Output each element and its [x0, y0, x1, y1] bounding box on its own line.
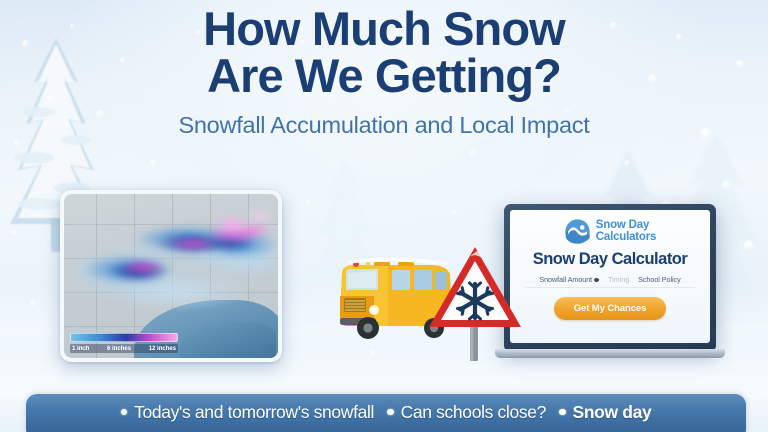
legend-label-1: 1 inch [72, 345, 89, 352]
banner-label-snow-day: Snow day [573, 402, 652, 423]
nav-label-snowfall-amount: Snowfall Amount [539, 275, 592, 284]
legend-label-2: 6 inches [107, 345, 131, 352]
legend-gradient-bar [70, 333, 178, 342]
nav-active-dot-icon [594, 278, 599, 282]
calculator-nav: Snowfall Amount Timing School Policy [525, 275, 694, 288]
site-logo-text: Snow Day Calculators [596, 220, 656, 243]
banner-item-snowfall: Today's and tomorrow's snowfall [121, 402, 374, 423]
laptop-base [495, 349, 725, 358]
calculator-heading: Snow Day Calculator [533, 250, 688, 269]
snow-warning-sign [425, 243, 525, 361]
logo-line-2: Calculators [596, 232, 656, 244]
title-line-2: Are We Getting? [0, 53, 768, 100]
laptop-mockup: Snow Day Calculators Snow Day Calculator… [504, 204, 716, 350]
banner-label-snowfall: Today's and tomorrow's snowfall [134, 402, 374, 423]
snow-day-calculators-logo-icon [564, 218, 591, 245]
feature-banner: Today's and tomorrow's snowfall Can scho… [26, 394, 746, 432]
map-band-pink [175, 207, 273, 256]
legend-label-3: 12 inches [149, 345, 176, 352]
snowfall-map-panel[interactable]: 1 inch 6 inches 12 inches [60, 190, 282, 362]
laptop-screen: Snow Day Calculators Snow Day Calculator… [510, 210, 710, 343]
hero-heading-block: How Much Snow Are We Getting? Snowfall A… [0, 6, 768, 139]
legend-tick-labels: 1 inch 6 inches 12 inches [70, 344, 178, 353]
logo-line-1: Snow Day [596, 220, 656, 232]
banner-item-school-closing: Can schools close? [387, 402, 546, 423]
banner-label-school-closing: Can schools close? [401, 402, 546, 423]
warning-triangle-snowflake-icon [425, 243, 525, 361]
bullet-dot-icon [121, 409, 128, 416]
snowfall-map: 1 inch 6 inches 12 inches [64, 194, 278, 358]
hero-banner-image: How Much Snow Are We Getting? Snowfall A… [0, 0, 768, 432]
banner-item-snow-day: Snow day [559, 402, 651, 423]
laptop-bezel: Snow Day Calculators Snow Day Calculator… [504, 204, 716, 350]
bullet-dot-icon [559, 409, 566, 416]
page-title: How Much Snow Are We Getting? [0, 6, 768, 99]
bullet-dot-icon [387, 409, 394, 416]
title-line-1: How Much Snow [203, 2, 565, 55]
page-subtitle: Snowfall Accumulation and Local Impact [0, 112, 768, 139]
site-logo[interactable]: Snow Day Calculators [564, 218, 656, 245]
nav-item-school-policy[interactable]: School Policy [638, 275, 681, 284]
get-my-chances-button[interactable]: Get My Chances [554, 297, 667, 320]
nav-item-timing[interactable]: Timing [608, 275, 629, 284]
nav-item-snowfall-amount[interactable]: Snowfall Amount [539, 275, 599, 284]
map-legend: 1 inch 6 inches 12 inches [70, 333, 178, 353]
